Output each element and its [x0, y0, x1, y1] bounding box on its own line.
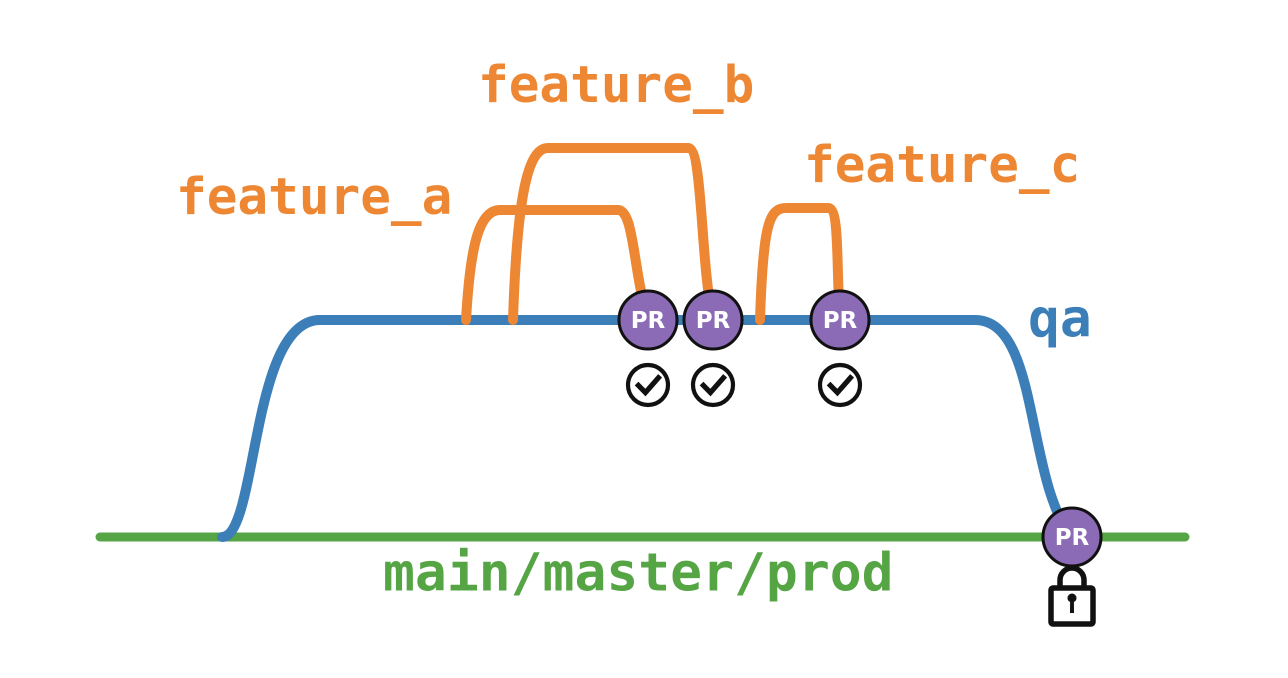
pr-node[interactable]: PR	[811, 291, 869, 349]
lock-shackle	[1060, 568, 1084, 588]
branch-label-main: main/master/prod	[383, 543, 894, 604]
check-circle-icon	[820, 365, 860, 405]
branch-label-feature_b: feature_b	[478, 56, 754, 115]
check-circle-ring	[628, 365, 668, 405]
branch-label-qa: qa	[1028, 289, 1092, 350]
pr-node-label: PR	[696, 308, 731, 334]
pr-node[interactable]: PR	[684, 291, 742, 349]
pr-node-label: PR	[1055, 525, 1090, 551]
lock-icon-group	[1051, 568, 1093, 624]
pr-node[interactable]: PR	[619, 291, 677, 349]
feature-b-branch-line	[513, 148, 713, 320]
branch-label-feature_a: feature_a	[176, 168, 452, 227]
check-circle-icon	[628, 365, 668, 405]
branch-label-feature_c: feature_c	[804, 136, 1080, 195]
check-circle-icon	[693, 365, 733, 405]
pr-node[interactable]: PR	[1043, 508, 1101, 566]
git-branching-diagram: main/master/prodqafeature_afeature_bfeat…	[0, 0, 1288, 678]
pr-node-label: PR	[823, 308, 858, 334]
feature-a-branch-line	[466, 210, 648, 320]
pr-node-label: PR	[631, 308, 666, 334]
diagram-canvas: main/master/prodqafeature_afeature_bfeat…	[0, 0, 1288, 678]
check-circle-ring	[820, 365, 860, 405]
lock-icon	[1051, 568, 1093, 624]
qa-branch-line	[222, 320, 1072, 537]
check-circle-ring	[693, 365, 733, 405]
status-icons	[628, 365, 860, 405]
